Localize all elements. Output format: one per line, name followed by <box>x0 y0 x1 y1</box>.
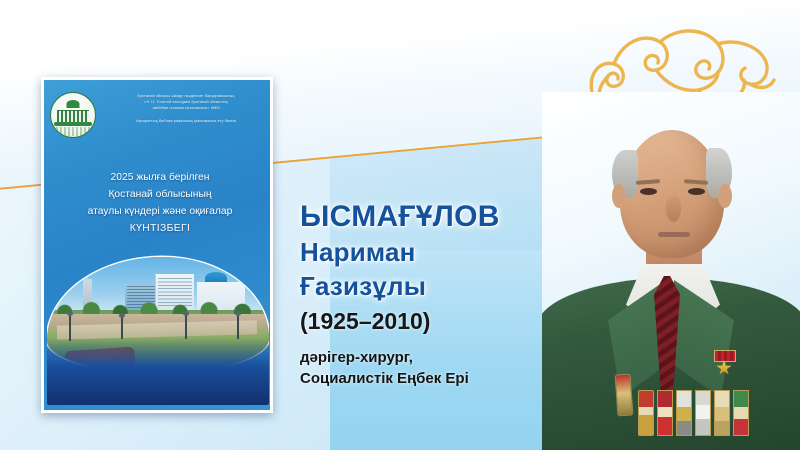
org-department: Ақпараттық-библиографиялық қамтамасыз ет… <box>102 118 270 124</box>
person-role-line-1: дәрігер-хирург, <box>300 347 570 368</box>
city-park-photo <box>47 257 269 373</box>
person-role-line-2: Социалистік Еңбек Ері <box>300 368 570 389</box>
book-cover: Қостанай облысы әкімдігі мәдениет басқар… <box>41 77 273 413</box>
org-line-3: әмбебап ғылыми кітапханасы» КММ <box>102 105 270 111</box>
person-info-block: ЫСМАҒҰЛОВ Нариман Ғазизұлы (1925–2010) д… <box>300 200 570 389</box>
book-cover-header: Қостанай облысы әкімдігі мәдениет басқар… <box>44 86 273 138</box>
library-emblem-icon <box>50 92 96 138</box>
person-life-dates: (1925–2010) <box>300 307 570 335</box>
book-title-line-4: КҮНТІЗБЕГІ <box>54 221 266 236</box>
portrait-photo <box>542 92 800 450</box>
book-title-line-1: 2025 жылға берілген <box>54 170 266 185</box>
hero-star-icon <box>712 350 736 380</box>
person-surname: ЫСМАҒҰЛОВ <box>300 200 570 234</box>
book-cover-title: 2025 жылға берілген Қостанай облысының а… <box>44 170 273 238</box>
book-title-line-3: атаулы күндері және оқиғалар <box>54 204 266 219</box>
person-patronymic: Ғазизұлы <box>300 270 570 302</box>
slide-canvas: Қостанай облысы әкімдігі мәдениет басқар… <box>0 0 800 450</box>
book-cover-organization: Қостанай облысы әкімдігі мәдениет басқар… <box>96 90 270 124</box>
person-first-name: Нариман <box>300 236 570 268</box>
book-title-line-2: Қостанай облысының <box>54 187 266 202</box>
book-cover-photo <box>47 245 269 405</box>
medal-bar <box>638 390 756 444</box>
order-badge <box>615 373 634 416</box>
